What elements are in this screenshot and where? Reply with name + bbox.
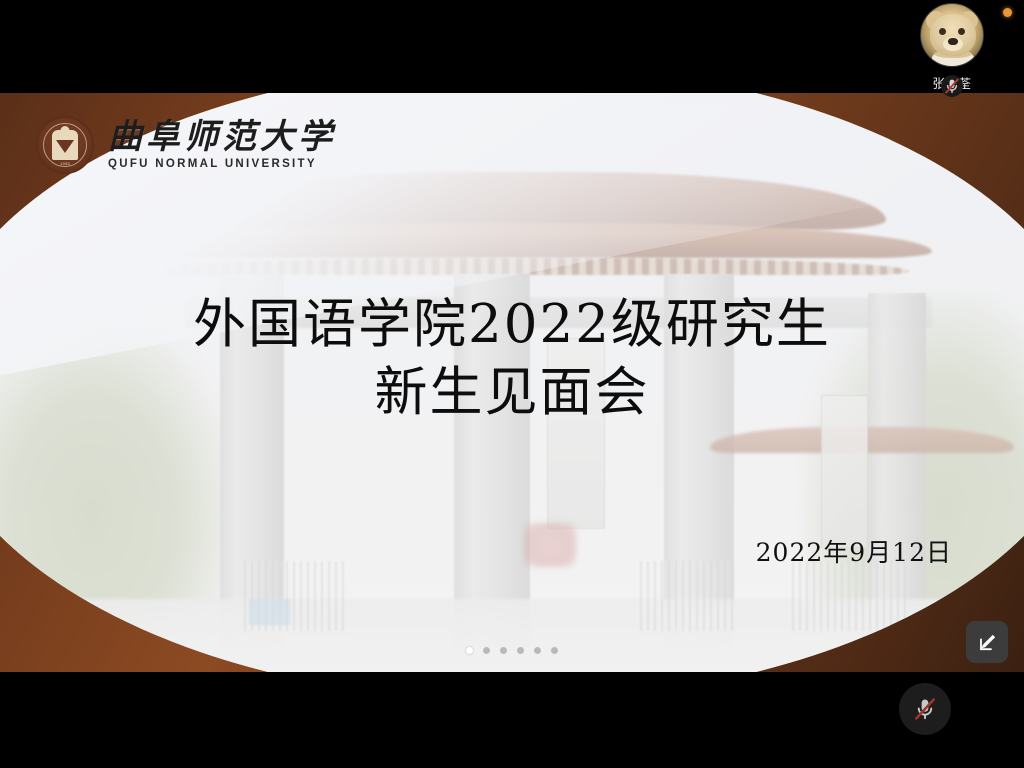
university-name-cn: 曲阜师范大学: [108, 120, 336, 154]
avatar-detail: [948, 38, 958, 45]
seal-core: [52, 130, 78, 160]
university-name-en: QUFU NORMAL UNIVERSITY: [108, 159, 336, 171]
slide-background-photo: [0, 93, 1024, 672]
gate-beam: [185, 297, 932, 329]
screen-share-view: 1955 曲阜师范大学 QUFU NORMAL UNIVERSITY 外国语学院…: [0, 0, 1024, 768]
avatar: [920, 3, 984, 67]
slide-dot-2[interactable]: [483, 647, 490, 654]
slide-dot-1[interactable]: [466, 647, 473, 654]
railing: [792, 561, 909, 631]
gate-plaque: [547, 338, 605, 529]
seal-year: 1955: [60, 161, 70, 166]
slide-dot-6[interactable]: [551, 647, 558, 654]
shared-slide-stage[interactable]: 1955 曲阜师范大学 QUFU NORMAL UNIVERSITY 外国语学院…: [0, 93, 1024, 672]
railing: [244, 561, 349, 631]
avatar-detail: [939, 28, 946, 35]
gate-roof-trim: [138, 258, 908, 275]
annotate-pencil-icon: [976, 631, 999, 654]
top-letterbox-bar: 张永荃: [0, 0, 1024, 93]
gate-roof-main: [162, 172, 886, 229]
slide-dot-5[interactable]: [534, 647, 541, 654]
ground-plaza: [0, 599, 1024, 672]
plaza-object: [249, 599, 290, 624]
slide-date: 2022年9月12日: [756, 533, 952, 569]
gate-plaque: [821, 395, 868, 548]
university-logo: 1955 曲阜师范大学 QUFU NORMAL UNIVERSITY: [36, 116, 336, 174]
recording-indicator-icon: [1003, 8, 1012, 17]
slide-dot-3[interactable]: [500, 647, 507, 654]
avatar-detail: [958, 28, 965, 35]
university-logo-text: 曲阜师范大学 QUFU NORMAL UNIVERSITY: [108, 120, 336, 171]
gate-roof-eave: [115, 223, 932, 258]
railing: [640, 561, 733, 631]
foliage-right: [804, 293, 1024, 662]
annotate-button[interactable]: [966, 621, 1008, 663]
gate-pillar: [220, 274, 284, 669]
bottom-toolbar: [0, 672, 1024, 768]
slide-frame: 1955 曲阜师范大学 QUFU NORMAL UNIVERSITY 外国语学院…: [0, 93, 1024, 672]
gate-lantern: [524, 523, 577, 568]
mic-muted-icon: [941, 75, 963, 97]
participant-thumbnail[interactable]: 张永荃: [911, 3, 993, 91]
slide-oval-photo-mask: [0, 93, 1024, 672]
university-seal-icon: 1955: [36, 116, 94, 174]
gate-pillar: [664, 274, 734, 669]
seal-glyph: [56, 140, 74, 153]
gate-pillar: [454, 274, 530, 669]
gate-roof-secondary: [710, 427, 1014, 452]
slide-pagination[interactable]: [0, 647, 1024, 654]
slide-dot-4[interactable]: [517, 647, 524, 654]
mute-toggle-button[interactable]: [899, 683, 951, 735]
foliage-left: [0, 319, 232, 650]
gate-pillar: [868, 293, 926, 656]
mic-muted-icon: [910, 694, 940, 724]
